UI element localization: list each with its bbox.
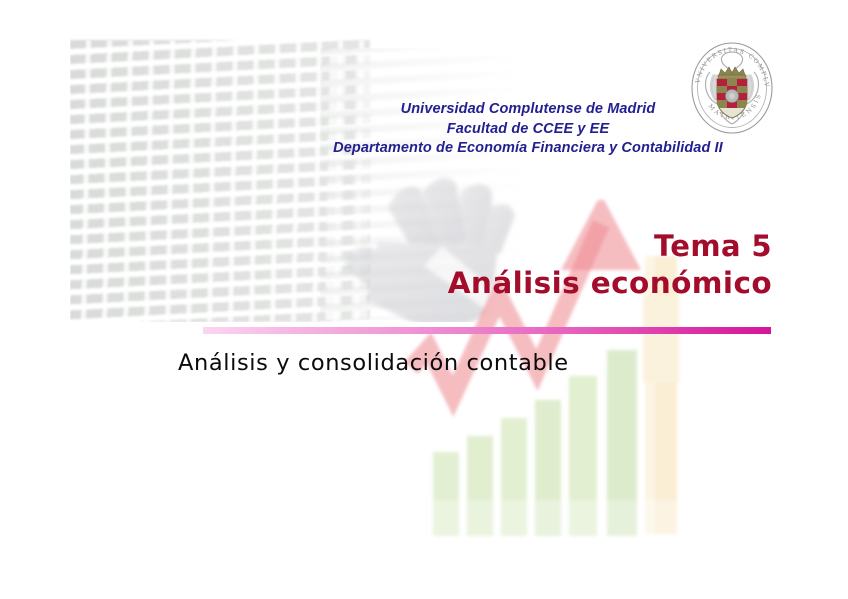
gradient-divider bbox=[203, 327, 771, 334]
title-line-tema: Tema 5 bbox=[180, 228, 772, 265]
header-line-department: Departamento de Economía Financiera y Co… bbox=[300, 139, 756, 159]
slide-canvas: Universidad Complutense de Madrid Facult… bbox=[0, 0, 848, 599]
slide-title: Tema 5 Análisis económico bbox=[180, 228, 772, 302]
seal-crown bbox=[718, 67, 746, 79]
title-line-subject: Análisis económico bbox=[180, 265, 772, 302]
course-subtitle: Análisis y consolidación contable bbox=[178, 350, 569, 376]
ucm-seal-logo: VNIVERSITAS COMPLVTENSIS MATRITENSIS bbox=[686, 38, 778, 136]
